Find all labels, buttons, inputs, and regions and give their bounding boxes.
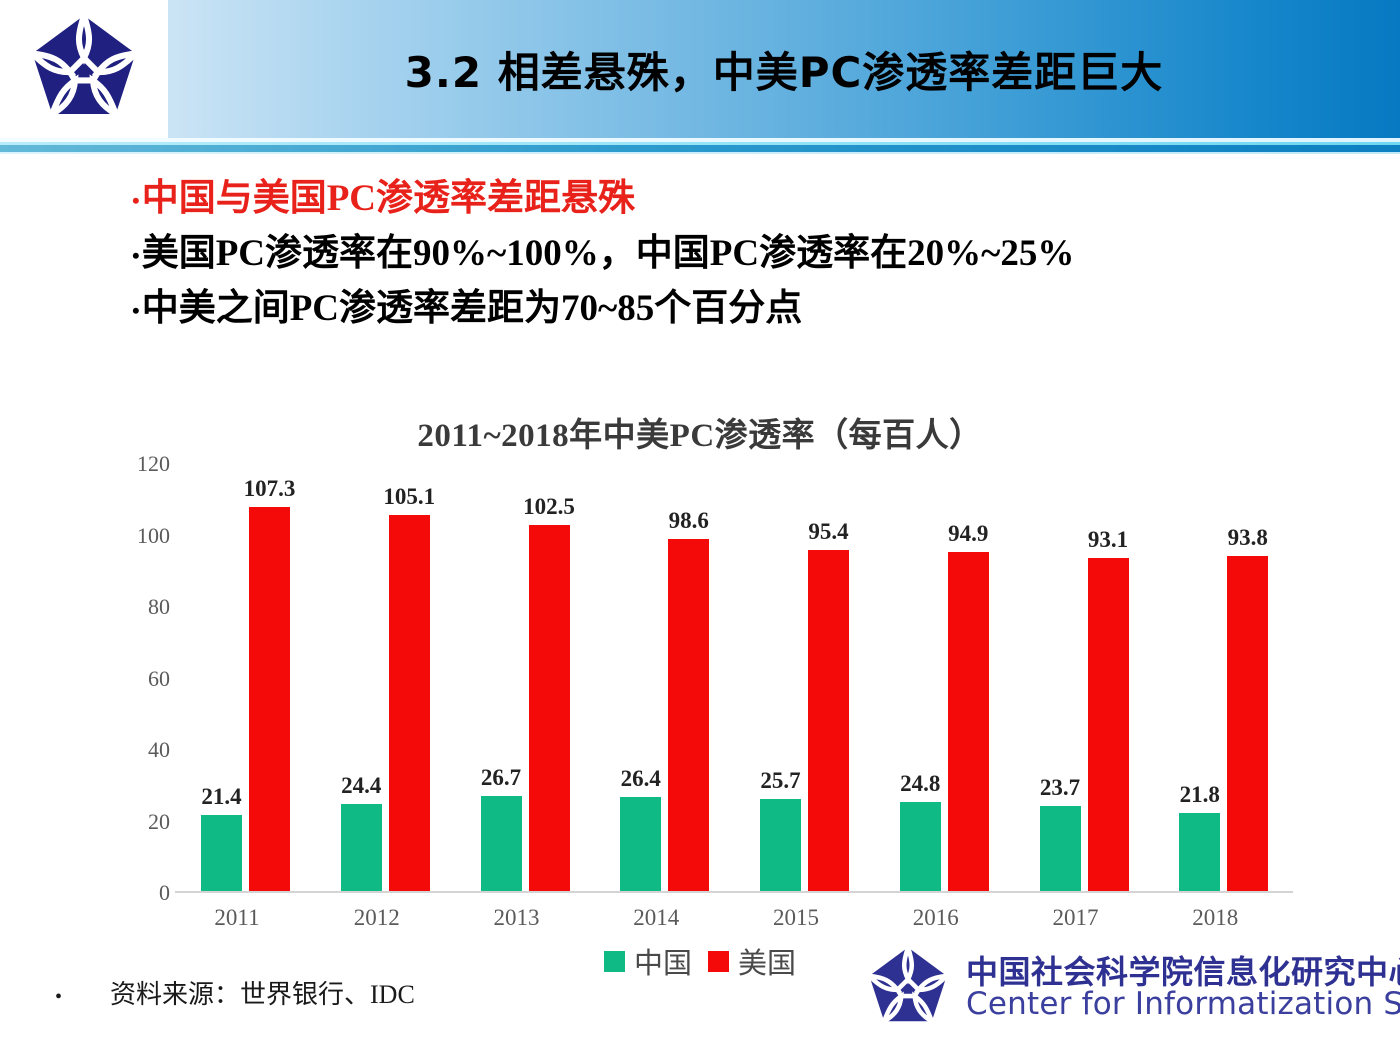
plot-area: 020406080100120 21.4107.3201124.4105.120…: [175, 462, 1293, 893]
bar-group: 24.4105.12012: [315, 462, 455, 891]
y-axis-tick-label: 40: [110, 737, 170, 763]
bullet-dot-icon: •: [132, 231, 140, 267]
x-axis-line: [175, 891, 1293, 893]
bullet-item: • 美国PC渗透率在90%~100%，中国PC渗透率在20%~25%: [132, 231, 1332, 276]
x-axis-tick-label: 2016: [913, 905, 959, 931]
y-axis-tick-label: 100: [110, 523, 170, 549]
bar[interactable]: 98.6: [668, 539, 709, 891]
bar-value-label: 26.4: [621, 766, 661, 792]
bar[interactable]: 25.7: [760, 799, 801, 891]
bar-value-label: 98.6: [669, 508, 709, 534]
bar-value-label: 93.8: [1228, 525, 1268, 551]
bar-value-label: 107.3: [244, 476, 296, 502]
y-axis-tick-label: 80: [110, 594, 170, 620]
header-logo-box: [0, 0, 168, 138]
bar-value-label: 23.7: [1040, 775, 1080, 801]
bar-value-label: 21.4: [201, 784, 241, 810]
org-logo-block: 中国社会科学院信息化研究中心 Center for Informatizatio…: [866, 944, 1400, 1033]
x-axis-tick-label: 2012: [354, 905, 400, 931]
slide-header: 3.2 相差悬殊，中美PC渗透率差距巨大: [0, 0, 1400, 138]
bar[interactable]: 24.8: [900, 802, 941, 891]
bar[interactable]: 21.4: [201, 815, 242, 892]
bullet-list: • 中国与美国PC渗透率差距悬殊 • 美国PC渗透率在90%~100%，中国PC…: [132, 176, 1332, 341]
page-title: 3.2 相差悬殊，中美PC渗透率差距巨大: [168, 0, 1400, 138]
bar-value-label: 105.1: [383, 484, 435, 510]
legend-swatch-icon: [604, 951, 625, 972]
source-text: 资料来源：世界银行、IDC: [110, 974, 415, 1011]
bar[interactable]: 102.5: [529, 525, 570, 891]
legend-item[interactable]: 中国: [604, 940, 692, 982]
bar-value-label: 95.4: [808, 519, 848, 545]
bar[interactable]: 23.7: [1040, 806, 1081, 891]
bar[interactable]: 93.8: [1227, 556, 1268, 891]
org-name: 中国社会科学院信息化研究中心 Center for Informatizatio…: [966, 956, 1400, 1020]
bar-group: 26.498.62014: [594, 462, 734, 891]
org-name-cn: 中国社会科学院信息化研究中心: [966, 956, 1400, 989]
bar-value-label: 93.1: [1088, 527, 1128, 553]
stripe-deep: [0, 145, 1400, 152]
bar[interactable]: 93.1: [1088, 558, 1129, 891]
y-axis-tick-label: 120: [110, 451, 170, 477]
source-note: • 资料来源：世界银行、IDC: [55, 974, 415, 1011]
org-name-en: Center for Informatization Study: [966, 989, 1400, 1021]
x-axis-tick-label: 2015: [773, 905, 819, 931]
bar-group: 24.894.92016: [874, 462, 1014, 891]
bar[interactable]: 94.9: [948, 552, 989, 891]
bar-group: 25.795.42015: [734, 462, 874, 891]
bar-value-label: 24.4: [341, 773, 381, 799]
bar-value-label: 24.8: [900, 771, 940, 797]
legend-label: 美国: [738, 940, 796, 982]
bar[interactable]: 105.1: [389, 515, 430, 891]
bar[interactable]: 26.7: [481, 796, 522, 891]
bar-value-label: 102.5: [523, 494, 575, 520]
source-bullet-dot-icon: •: [55, 986, 62, 1009]
legend-item[interactable]: 美国: [708, 940, 796, 982]
bullet-text: 中美之间PC渗透率差距为70~85个百分点: [142, 286, 803, 331]
x-axis-tick-label: 2018: [1192, 905, 1238, 931]
x-axis-tick-label: 2013: [494, 905, 540, 931]
bar-groups: 21.4107.3201124.4105.1201226.7102.520132…: [175, 462, 1293, 891]
bar[interactable]: 26.4: [620, 797, 661, 891]
bar-group: 26.7102.52013: [455, 462, 595, 891]
bar-group: 23.793.12017: [1014, 462, 1154, 891]
legend-label: 中国: [634, 940, 692, 982]
bar-chart: 020406080100120 21.4107.3201124.4105.120…: [118, 452, 1298, 902]
bar[interactable]: 107.3: [249, 507, 290, 891]
bar[interactable]: 21.8: [1179, 813, 1220, 891]
x-axis-tick-label: 2014: [633, 905, 679, 931]
bullet-item: • 中国与美国PC渗透率差距悬殊: [132, 176, 1332, 221]
x-axis-tick-label: 2011: [214, 905, 259, 931]
bar-value-label: 94.9: [948, 521, 988, 547]
bar-value-label: 26.7: [481, 765, 521, 791]
bullet-text: 中国与美国PC渗透率差距悬殊: [142, 176, 635, 221]
bullet-item: • 中美之间PC渗透率差距为70~85个百分点: [132, 286, 1332, 331]
pentagon-emblem-icon: [866, 944, 950, 1033]
pentagon-emblem-icon: [28, 11, 140, 128]
bar-value-label: 21.8: [1180, 782, 1220, 808]
bullet-text: 美国PC渗透率在90%~100%，中国PC渗透率在20%~25%: [142, 231, 1075, 276]
y-axis-tick-label: 60: [110, 666, 170, 692]
bar-group: 21.4107.32011: [175, 462, 315, 891]
bullet-dot-icon: •: [132, 286, 140, 322]
bar[interactable]: 95.4: [808, 550, 849, 891]
bar-value-label: 25.7: [760, 768, 800, 794]
y-axis-tick-label: 0: [110, 880, 170, 906]
chart-title: 2011~2018年中美PC渗透率（每百人）: [0, 408, 1400, 456]
bar[interactable]: 24.4: [341, 804, 382, 891]
bar-group: 21.893.82018: [1153, 462, 1293, 891]
bullet-dot-icon: •: [132, 176, 140, 212]
stripe-tail: [0, 152, 1400, 154]
x-axis-tick-label: 2017: [1053, 905, 1099, 931]
header-stripe: [0, 138, 1400, 154]
legend-swatch-icon: [708, 951, 729, 972]
y-axis-tick-label: 20: [110, 809, 170, 835]
